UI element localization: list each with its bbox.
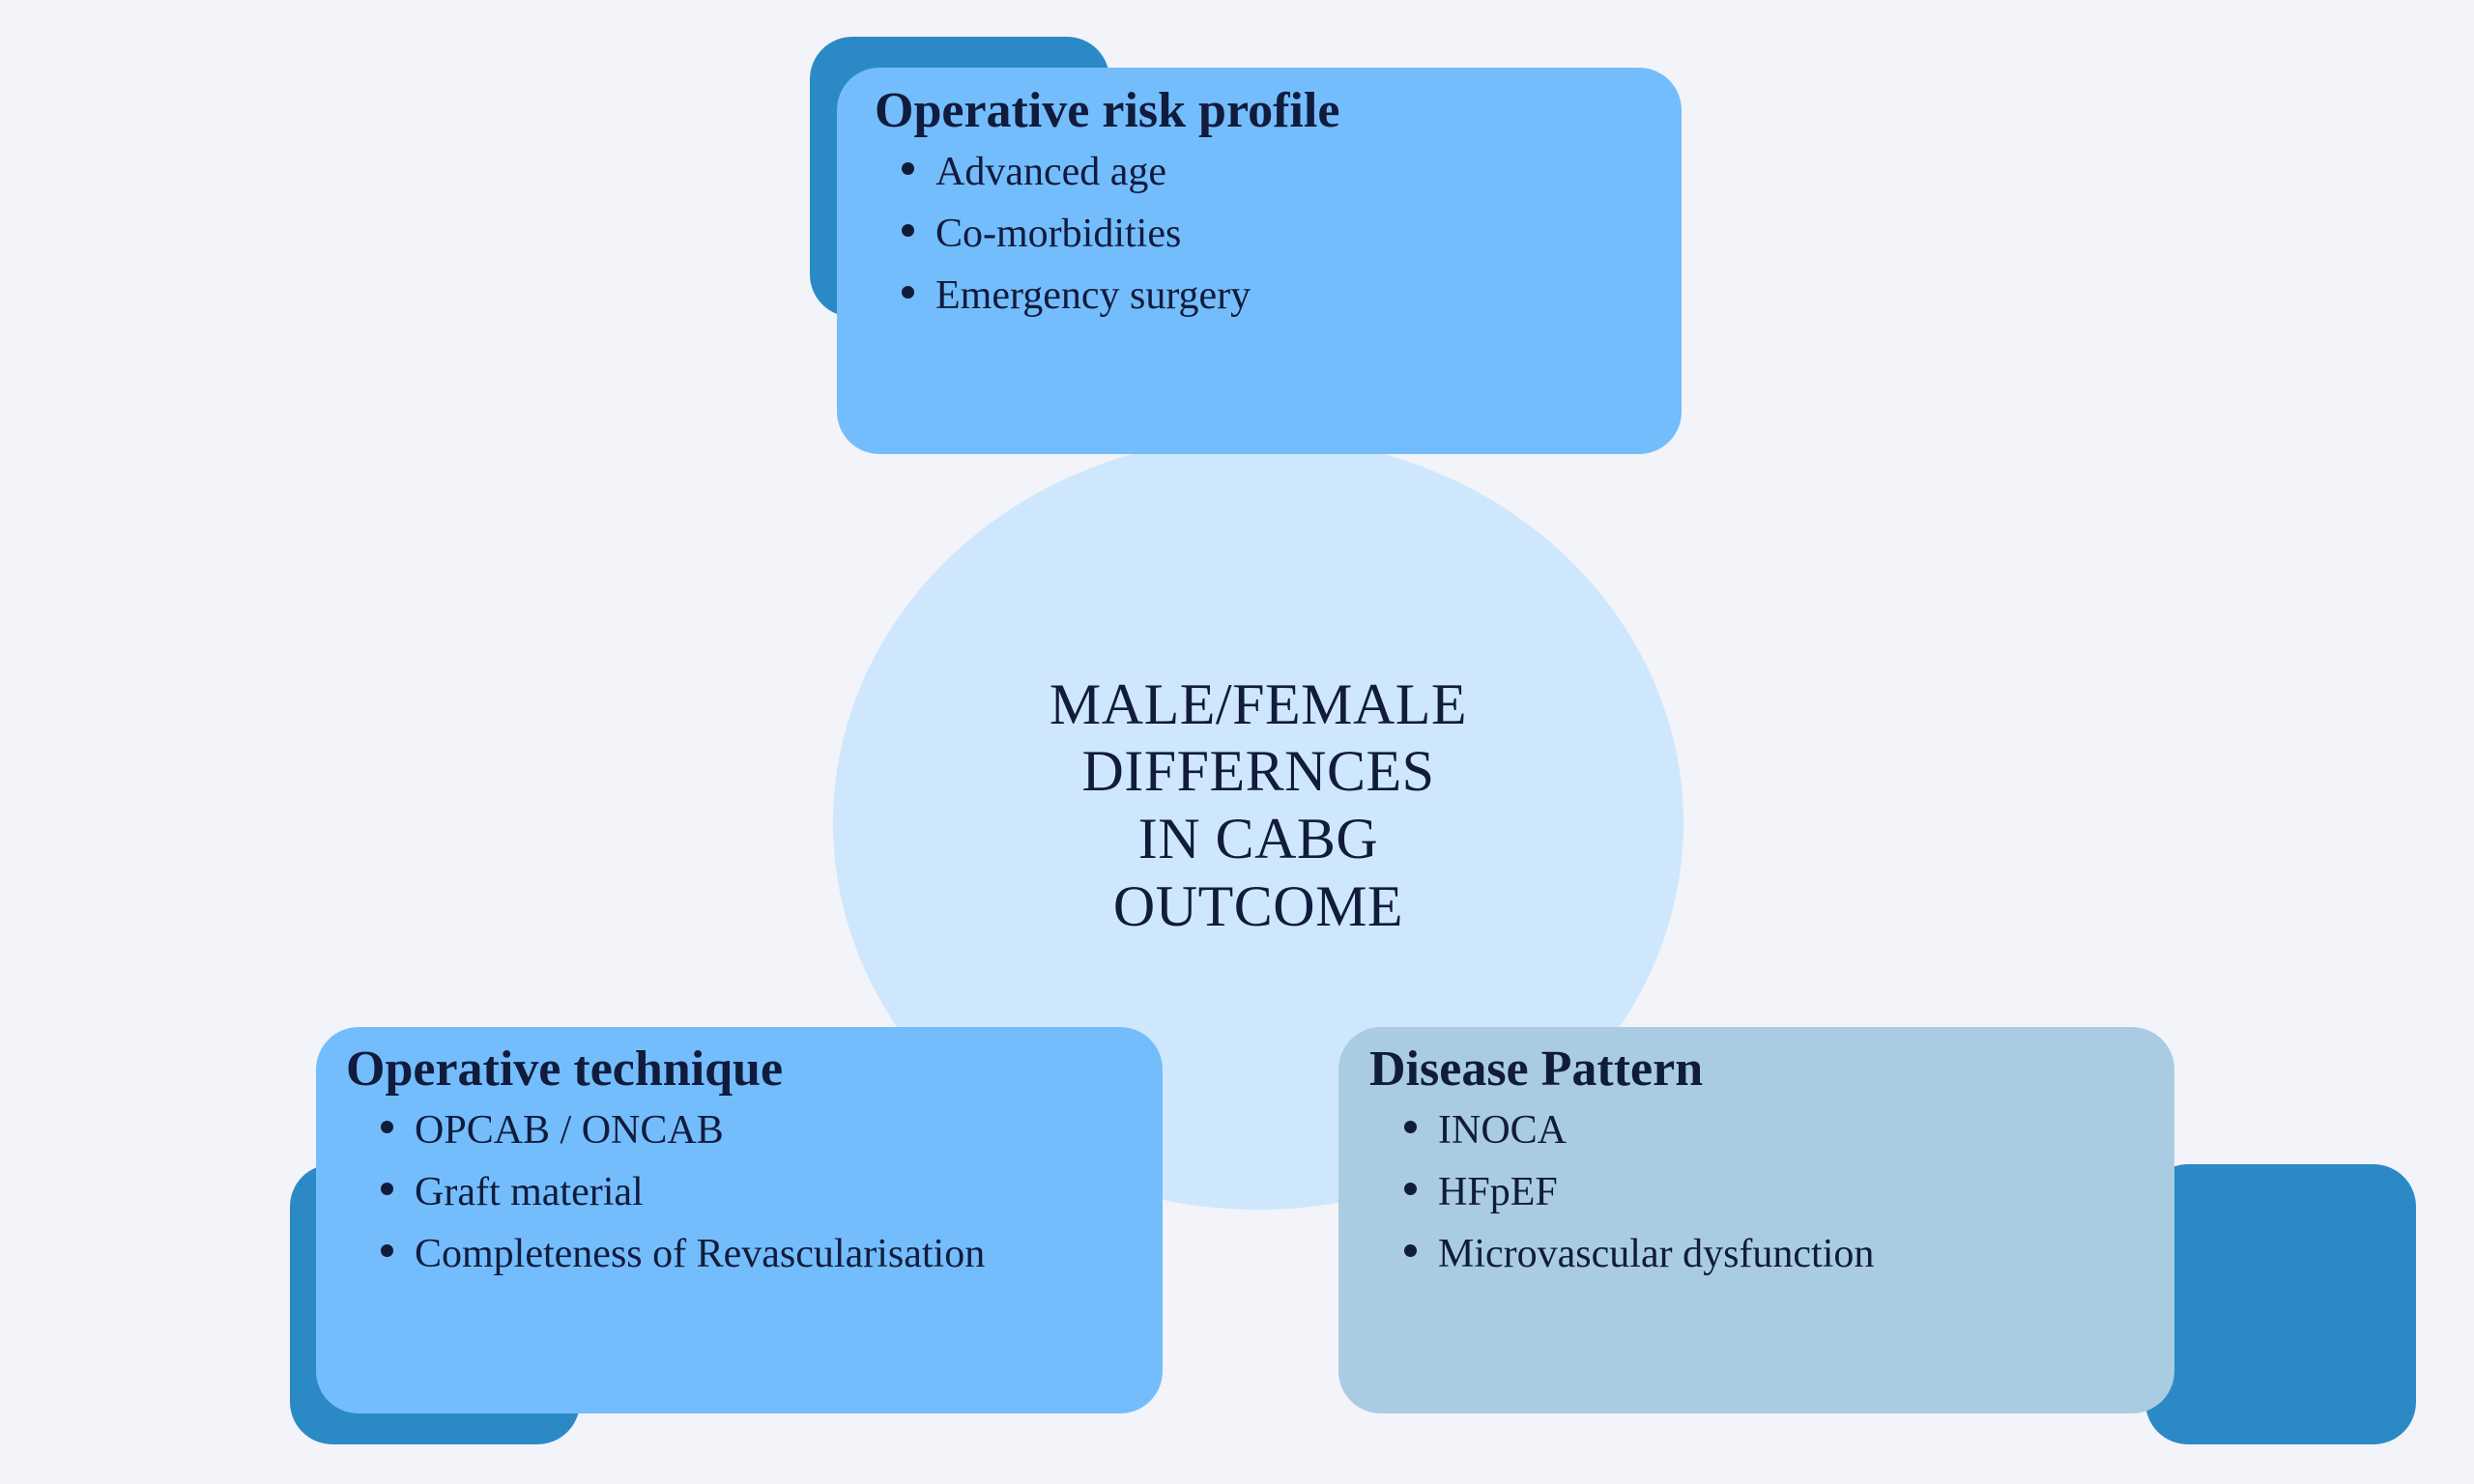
card-operative-technique[interactable]: Operative technique OPCAB / ONCAB Graft … xyxy=(0,985,1256,1484)
list-item: HFpEF xyxy=(1404,1172,1874,1213)
card-bullet-list-operative-risk-profile: Advanced age Co-morbidities Emergency su… xyxy=(902,152,1339,316)
list-item-label: INOCA xyxy=(1438,1110,1567,1151)
card-title-operative-technique: Operative technique xyxy=(346,1043,985,1097)
card-title-disease-pattern: Disease Pattern xyxy=(1369,1043,1874,1097)
list-item: Advanced age xyxy=(902,152,1339,192)
bullet-icon xyxy=(1404,1183,1417,1195)
bullet-icon xyxy=(381,1121,393,1133)
list-item-label: HFpEF xyxy=(1438,1172,1558,1213)
list-item: Completeness of Revascularisation xyxy=(381,1234,985,1274)
list-item: INOCA xyxy=(1404,1110,1874,1151)
list-item-label: Emergency surgery xyxy=(935,275,1251,316)
bullet-icon xyxy=(1404,1121,1417,1133)
bullet-icon xyxy=(381,1183,393,1195)
list-item-label: Co-morbidities xyxy=(935,214,1181,254)
bullet-icon xyxy=(1404,1244,1417,1257)
bullet-icon xyxy=(902,224,914,237)
card-bullet-list-operative-technique: OPCAB / ONCAB Graft material Completenes… xyxy=(381,1110,985,1274)
list-item-label: Microvascular dysfunction xyxy=(1438,1234,1874,1274)
card-disease-pattern[interactable]: Disease Pattern INOCA HFpEF Microvascula… xyxy=(1256,985,2474,1484)
list-item-label: OPCAB / ONCAB xyxy=(415,1110,724,1151)
list-item-label: Completeness of Revascularisation xyxy=(415,1234,985,1274)
center-circle-label: MALE/FEMALE DIFFERNCES IN CABG OUTCOME xyxy=(1050,671,1467,940)
list-item-label: Graft material xyxy=(415,1172,644,1213)
bullet-icon xyxy=(902,286,914,299)
card-title-operative-risk-profile: Operative risk profile xyxy=(875,85,1339,138)
diagram-canvas: MALE/FEMALE DIFFERNCES IN CABG OUTCOME O… xyxy=(0,0,2474,1484)
bullet-icon xyxy=(902,162,914,175)
card-content-operative-technique: Operative technique OPCAB / ONCAB Graft … xyxy=(346,1043,985,1274)
list-item: OPCAB / ONCAB xyxy=(381,1110,985,1151)
card-content-disease-pattern: Disease Pattern INOCA HFpEF Microvascula… xyxy=(1369,1043,1874,1274)
list-item: Emergency surgery xyxy=(902,275,1339,316)
card-shadow-disease-pattern xyxy=(2145,1164,2416,1444)
list-item: Microvascular dysfunction xyxy=(1404,1234,1874,1274)
bullet-icon xyxy=(381,1244,393,1257)
list-item-label: Advanced age xyxy=(935,152,1166,192)
list-item: Graft material xyxy=(381,1172,985,1213)
card-operative-risk-profile[interactable]: Operative risk profile Advanced age Co-m… xyxy=(0,0,2474,502)
card-content-operative-risk-profile: Operative risk profile Advanced age Co-m… xyxy=(875,85,1339,316)
card-bullet-list-disease-pattern: INOCA HFpEF Microvascular dysfunction xyxy=(1404,1110,1874,1274)
list-item: Co-morbidities xyxy=(902,214,1339,254)
